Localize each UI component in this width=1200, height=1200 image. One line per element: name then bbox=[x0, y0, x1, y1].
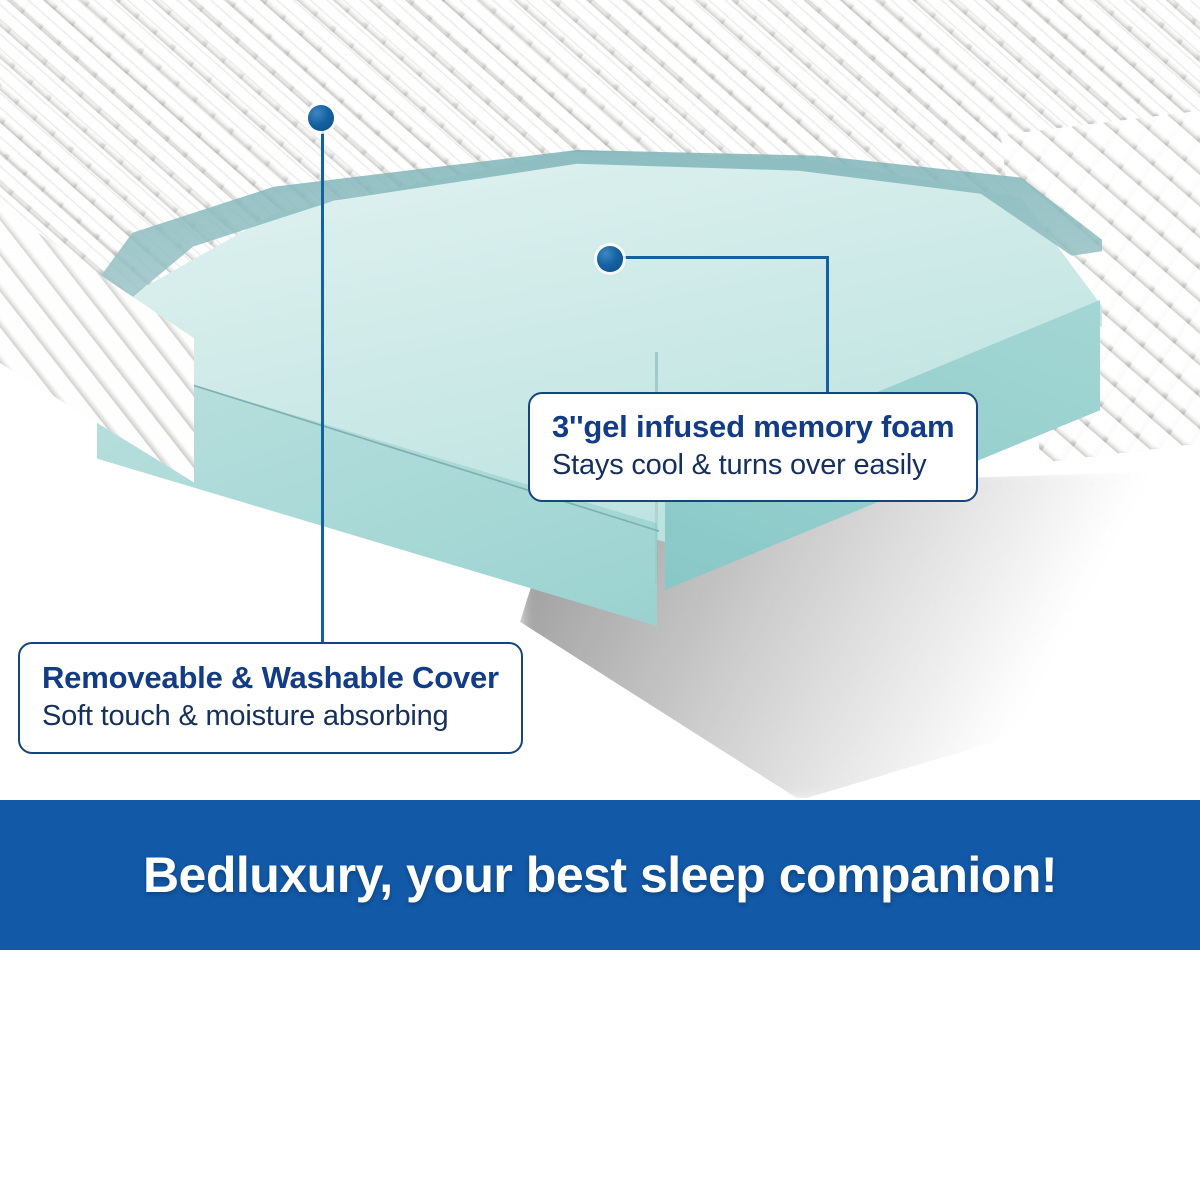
product-hero-image: 3''gel infused memory foam Stays cool & … bbox=[0, 0, 1200, 798]
product-infographic: 3''gel infused memory foam Stays cool & … bbox=[0, 0, 1200, 1200]
callout-dot-icon-cover bbox=[308, 105, 334, 131]
callout-dot-icon-foam bbox=[597, 246, 623, 272]
callout-washable-cover: Removeable & Washable Cover Soft touch &… bbox=[18, 642, 523, 754]
leader-line-foam-vertical bbox=[826, 256, 829, 396]
callout-gel-foam-title: 3''gel infused memory foam bbox=[552, 408, 954, 446]
callout-gel-foam: 3''gel infused memory foam Stays cool & … bbox=[528, 392, 978, 502]
tagline-banner: Bedluxury, your best sleep companion! bbox=[0, 800, 1200, 950]
callout-washable-cover-subtitle: Soft touch & moisture absorbing bbox=[42, 697, 499, 736]
leader-line-foam-horizontal bbox=[615, 256, 829, 259]
callout-washable-cover-title: Removeable & Washable Cover bbox=[42, 658, 499, 697]
callout-gel-foam-subtitle: Stays cool & turns over easily bbox=[552, 446, 954, 484]
leader-line-cover bbox=[321, 126, 324, 648]
certification-strip: CERTIFIED FLEXIBLE POLYURETHANE FOAM www… bbox=[0, 950, 1200, 1200]
tagline-text: Bedluxury, your best sleep companion! bbox=[143, 846, 1057, 904]
